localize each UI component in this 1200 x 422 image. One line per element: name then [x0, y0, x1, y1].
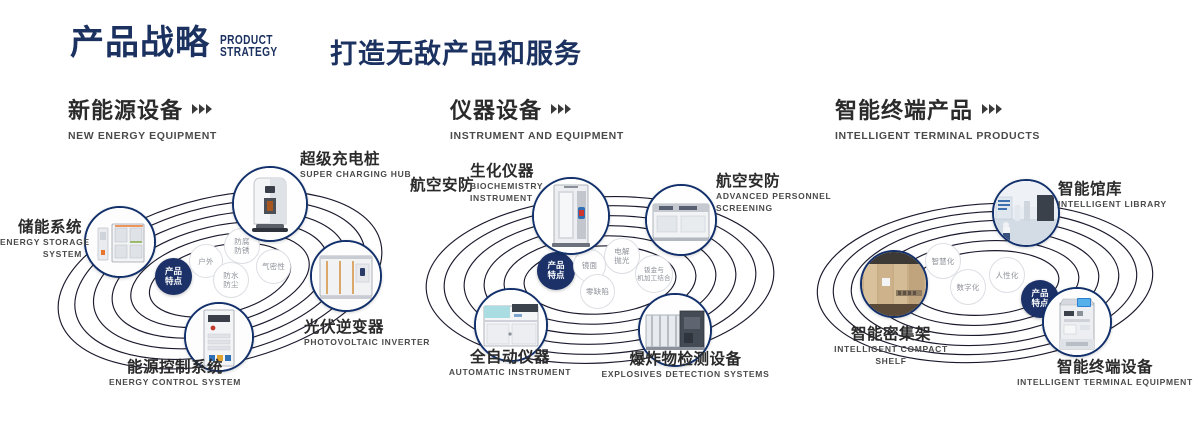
- feature-bubble-waterproof: 防水 防尘: [213, 262, 249, 298]
- section-title-en: INSTRUMENT AND EQUIPMENT: [450, 130, 624, 142]
- node-label-en-line1: INTELLIGENT COMPACT: [806, 344, 976, 355]
- section-title-instrument: 仪器设备 INSTRUMENT AND EQUIPMENT: [450, 93, 624, 142]
- page-title: 产品战略 PRODUCT STRATEGY: [70, 26, 294, 60]
- core-bubble-line1: 产品: [547, 261, 564, 271]
- label-aviation-security-left: 航空安防: [410, 176, 474, 194]
- feature-bubble-label: 零缺陷: [586, 287, 609, 296]
- node-label-cn: 智能终端设备: [1012, 358, 1198, 376]
- node-label-en-line2: SHELF: [806, 356, 976, 367]
- label-photovoltaic-inverter: 光伏逆变器 PHOTOVOLTAIC INVERTER: [304, 318, 430, 348]
- section-title-new-energy: 新能源设备 NEW ENERGY EQUIPMENT: [68, 93, 217, 142]
- node-smart-library[interactable]: [992, 179, 1060, 247]
- section-title-intelligent: 智能终端产品 INTELLIGENT TERMINAL PRODUCTS: [835, 93, 1040, 142]
- feature-bubble-label: 人性化: [995, 271, 1018, 280]
- section-title-en: INTELLIGENT TERMINAL PRODUCTS: [835, 130, 1040, 142]
- compact-shelf-icon: [862, 252, 926, 316]
- feature-bubble-label: 数字化: [956, 283, 979, 292]
- feature-bubble-label: 气密性: [262, 262, 285, 271]
- energy-storage-cabinet-icon: [86, 208, 154, 276]
- feature-bubble-line2: 防尘: [223, 280, 238, 289]
- label-biochemistry-instrument: 生化仪器 BIOCHEMISTRY INSTRUMENT: [470, 162, 543, 203]
- core-bubble-line2: 特点: [547, 271, 564, 281]
- node-label-en-line2: INSTRUMENT: [470, 193, 543, 204]
- section-title-en: NEW ENERGY EQUIPMENT: [68, 130, 217, 142]
- smart-library-icon: [994, 181, 1058, 245]
- feature-bubble-sheetmetal-machining: 钣金与 机加工结合: [635, 255, 673, 293]
- label-energy-storage-system: 储能系统 ENERGY STORAGE SYSTEM: [0, 218, 82, 259]
- node-label-en-line1: ENERGY STORAGE: [0, 237, 82, 248]
- feature-bubble-label: 镜面: [582, 261, 597, 270]
- feature-bubble-line1: 电解: [614, 247, 629, 256]
- node-label-en-line1: BIOCHEMISTRY: [470, 181, 543, 192]
- pv-inverter-cabinet-icon: [312, 242, 380, 310]
- label-compact-shelf: 智能密集架 INTELLIGENT COMPACT SHELF: [806, 325, 976, 366]
- node-label-cn: 全自动仪器: [430, 348, 590, 366]
- section-title-cn: 智能终端产品: [835, 93, 973, 125]
- chevron-right-icon: [982, 104, 1002, 114]
- node-label-cn: 智能密集架: [806, 325, 976, 343]
- node-label-cn: 航空安防: [410, 176, 474, 194]
- node-advanced-personnel-screening[interactable]: [645, 184, 717, 256]
- node-label-en: EXPLOSIVES DETECTION SYSTEMS: [588, 369, 783, 380]
- node-energy-storage-system[interactable]: [84, 206, 156, 278]
- node-label-cn: 储能系统: [0, 218, 82, 236]
- node-label-cn: 能源控制系统: [75, 358, 275, 376]
- node-label-en-line2: SYSTEM: [0, 249, 82, 260]
- screening-machine-icon: [647, 186, 715, 254]
- node-label-cn: 生化仪器: [470, 162, 543, 180]
- node-photovoltaic-inverter[interactable]: [310, 240, 382, 312]
- node-label-en: INTELLIGENT LIBRARY: [1058, 199, 1167, 210]
- self-service-kiosk-icon: [1044, 289, 1110, 355]
- node-label-cn: 爆炸物检测设备: [588, 350, 783, 368]
- chevron-right-icon: [192, 104, 212, 114]
- node-label-en: INTELLIGENT TERMINAL EQUIPMENT: [1012, 377, 1198, 388]
- core-bubble-new-energy: 产品 特点: [155, 258, 192, 295]
- node-label-en: ENERGY CONTROL SYSTEM: [75, 377, 275, 388]
- node-label-en: SUPER CHARGING HUB: [300, 169, 411, 180]
- core-bubble-line2: 特点: [165, 277, 182, 287]
- feature-bubble-humanized: 人性化: [989, 257, 1025, 293]
- label-super-charging-hub: 超级充电桩 SUPER CHARGING HUB: [300, 150, 411, 180]
- node-label-cn: 超级充电桩: [300, 150, 411, 168]
- feature-bubble-label: 智慧化: [931, 257, 954, 266]
- feature-bubble-line1: 钣金与: [637, 266, 671, 274]
- feature-bubble-line2: 机加工结合: [637, 274, 671, 282]
- feature-bubble-digital: 数字化: [950, 269, 986, 305]
- section-title-cn: 仪器设备: [450, 93, 542, 125]
- node-label-cn: 光伏逆变器: [304, 318, 430, 336]
- node-terminal-equipment[interactable]: [1042, 287, 1112, 357]
- feature-bubble-label: 户外: [198, 257, 213, 266]
- page-title-en: PRODUCT STRATEGY: [220, 34, 278, 58]
- label-explosives-detection: 爆炸物检测设备 EXPLOSIVES DETECTION SYSTEMS: [588, 350, 783, 380]
- page-subtitle: 打造无敌产品和服务: [330, 32, 582, 71]
- biochemistry-scanner-icon: [534, 179, 608, 253]
- core-bubble-line1: 产品: [165, 267, 182, 277]
- node-compact-shelf[interactable]: [860, 250, 928, 318]
- page-title-en-line2: STRATEGY: [220, 46, 278, 58]
- node-label-en: AUTOMATIC INSTRUMENT: [430, 367, 590, 378]
- node-biochemistry-instrument[interactable]: [532, 177, 610, 255]
- node-super-charging-hub[interactable]: [232, 166, 308, 242]
- label-smart-library: 智能馆库 INTELLIGENT LIBRARY: [1058, 180, 1167, 210]
- ev-charging-pile-icon: [234, 168, 306, 240]
- label-terminal-equipment: 智能终端设备 INTELLIGENT TERMINAL EQUIPMENT: [1012, 358, 1198, 388]
- feature-bubble-line2: 抛光: [614, 256, 629, 265]
- chevron-right-icon: [551, 104, 571, 114]
- feature-bubble-line1: 防水: [223, 271, 238, 280]
- page-title-cn: 产品战略: [70, 26, 210, 60]
- feature-bubble-line2: 防锈: [234, 246, 249, 255]
- feature-bubble-airtight: 气密性: [256, 249, 291, 284]
- label-energy-control-system: 能源控制系统 ENERGY CONTROL SYSTEM: [75, 358, 275, 388]
- core-bubble-instrument: 产品 特点: [537, 252, 575, 290]
- poster-canvas: 产品战略 PRODUCT STRATEGY 打造无敌产品和服务 新能源设备 NE…: [0, 0, 1200, 422]
- node-label-en: PHOTOVOLTAIC INVERTER: [304, 337, 430, 348]
- feature-bubble-zero-defect: 零缺陷: [580, 274, 615, 309]
- label-automatic-instrument: 全自动仪器 AUTOMATIC INSTRUMENT: [430, 348, 590, 378]
- section-title-cn: 新能源设备: [68, 93, 183, 125]
- node-label-cn: 智能馆库: [1058, 180, 1167, 198]
